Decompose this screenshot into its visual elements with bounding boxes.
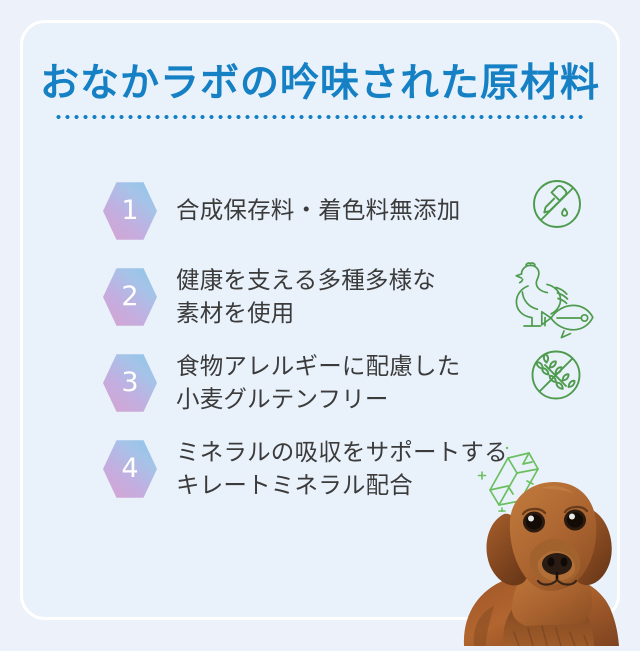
feature-label: ミネラルの吸収をサポートする キレートミネラル配合 [176, 436, 508, 503]
content-card: おなかラボの吟味された原材料 1 合成保存料・着色料無添加 [23, 23, 617, 617]
feature-number-badge: 3 [103, 353, 157, 413]
feature-row: 2 健康を支える多種多様な 素材を使用 [103, 254, 603, 340]
feature-number-badge: 2 [103, 267, 157, 327]
feature-label: 合成保存料・着色料無添加 [176, 194, 460, 227]
chicken-and-fish-icon [501, 252, 597, 345]
no-dropper-icon [527, 174, 587, 239]
feature-row: 1 合成保存料・着色料無添加 [103, 168, 603, 254]
promo-banner: おなかラボの吟味された原材料 1 合成保存料・着色料無添加 [0, 0, 640, 640]
feature-row: 3 食物アレルギーに配慮した 小麦グルテンフリー [103, 340, 603, 426]
feature-label: 健康を支える多種多様な 素材を使用 [176, 264, 436, 331]
feature-number: 1 [121, 197, 138, 226]
page-title: おなかラボの吟味された原材料 [23, 63, 617, 106]
feature-number: 4 [121, 455, 138, 484]
mineral-crystal-icon [477, 442, 551, 517]
content-card-surface: おなかラボの吟味された原材料 1 合成保存料・着色料無添加 [23, 23, 617, 617]
title-block: おなかラボの吟味された原材料 [23, 63, 617, 119]
feature-number: 3 [121, 369, 138, 398]
no-wheat-icon [525, 344, 587, 411]
feature-number-badge: 1 [103, 181, 157, 241]
feature-row: 4 ミネラルの吸収をサポートする キレートミネラル配合 [103, 426, 603, 512]
feature-number: 2 [121, 283, 138, 312]
feature-number-badge: 4 [103, 439, 157, 499]
feature-list: 1 合成保存料・着色料無添加 [103, 168, 603, 512]
title-dotted-underline [54, 115, 586, 119]
feature-label: 食物アレルギーに配慮した 小麦グルテンフリー [176, 350, 460, 417]
